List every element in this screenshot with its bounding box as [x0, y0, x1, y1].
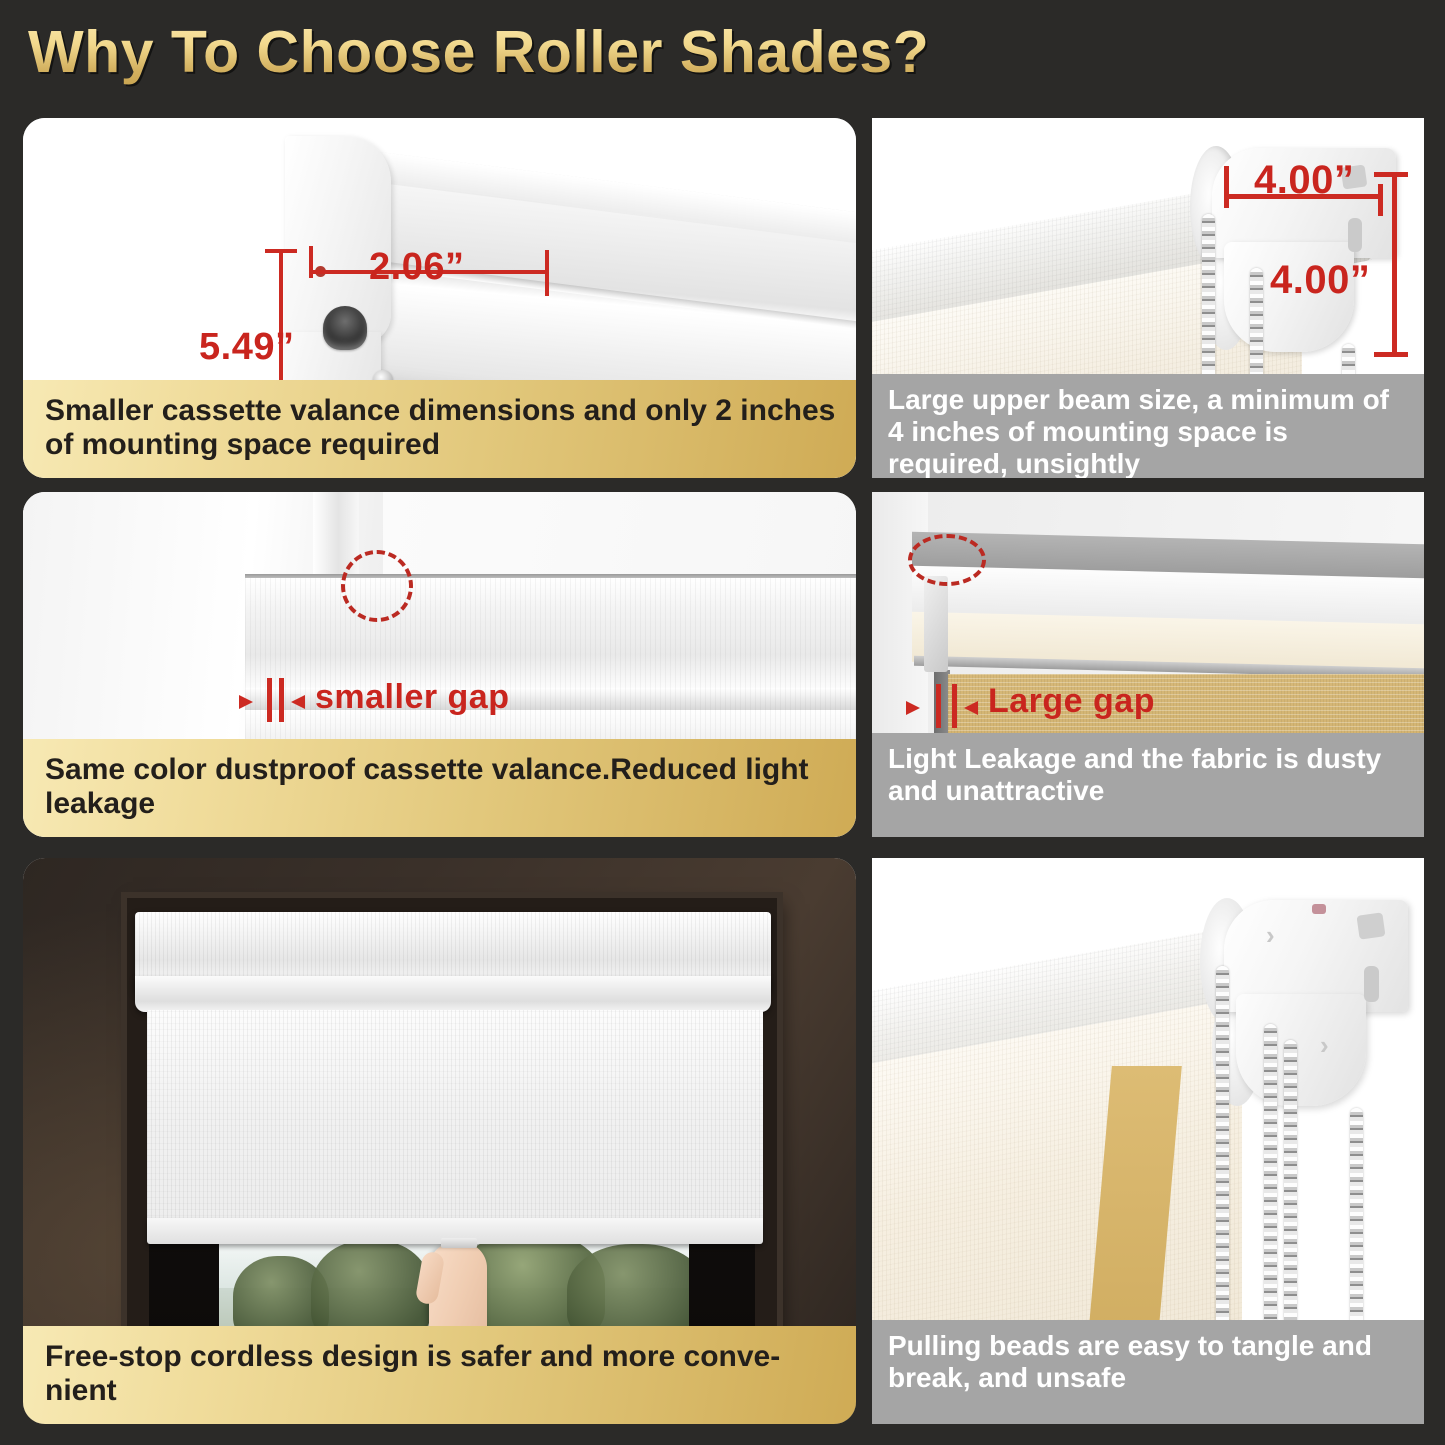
panel-1-caption: Smaller cassette valance dimensions and …: [23, 380, 856, 478]
panel-3-caption: Same color dustproof cassette valance.Re…: [23, 739, 856, 837]
infographic-root: Why To Choose Roller Shades? 2.06” 5.49”…: [0, 0, 1445, 1445]
width-dimension-tick-left: [1224, 166, 1229, 208]
panel-1-smaller-cassette: 2.06” 5.49” Smaller cassette valance dim…: [23, 118, 856, 478]
gap-mark: [279, 678, 284, 722]
bracket-indicator-dot: [1312, 904, 1326, 914]
highlight-circle-icon: [341, 550, 413, 622]
valance-lip: [135, 976, 771, 1012]
page-title: Why To Choose Roller Shades?: [28, 18, 929, 86]
tree: [311, 1244, 431, 1338]
bracket-slot-icon: [1348, 218, 1362, 252]
panel-5-cordless-design: Free-stop cordless design is safer and m…: [23, 858, 856, 1424]
height-dimension-label: 5.49”: [199, 326, 294, 369]
bracket-arrow-icon: ›: [1266, 920, 1275, 951]
pull-tab: [441, 1238, 477, 1248]
height-dimension-tick-top: [1374, 172, 1408, 177]
panel-5-caption: Free-stop cordless design is safer and m…: [23, 1326, 856, 1424]
width-dimension-label: 4.00”: [1254, 158, 1354, 203]
valance-slot: [323, 306, 367, 350]
bracket-tab-icon: [1356, 912, 1385, 939]
width-dimension-tick-left: [309, 246, 313, 278]
gap-arrow-left-icon: [239, 695, 253, 709]
height-dimension-tick-bottom: [1374, 352, 1408, 357]
height-dimension-tick-top: [265, 249, 297, 253]
panel-4-large-gap: Large gap Light Leakage and the fabric i…: [872, 492, 1424, 837]
gap-arrow-right-icon: [964, 701, 978, 715]
panel-6-caption: Pulling beads are easy to tangle and bre…: [872, 1320, 1424, 1424]
gap-mark: [936, 684, 941, 728]
shade-fabric-upper: [245, 578, 856, 688]
width-dimension-tick-right: [545, 250, 549, 296]
panel-2-caption: Large upper beam size, a minimum of 4 in…: [872, 374, 1424, 478]
gap-mark: [267, 678, 272, 722]
bracket-slot-icon: [1364, 966, 1379, 1002]
mounting-bracket-bottom: [1236, 994, 1366, 1106]
height-dimension-line: [1392, 174, 1397, 356]
panel-4-caption: Light Leakage and the fabric is dusty an…: [872, 733, 1424, 837]
mounting-bracket: [924, 576, 948, 672]
tree: [567, 1244, 689, 1338]
gap-arrow-left-icon: [906, 701, 920, 715]
highlight-circle-icon: [908, 534, 986, 586]
panel-2-large-beam: 4.00” 4.00” Large upper beam size, a min…: [872, 118, 1424, 478]
bracket-arrow-icon: ›: [1320, 1030, 1329, 1061]
panel-6-pulling-beads: › › Pulling beads are easy to tangle and…: [872, 858, 1424, 1424]
panel-3-smaller-gap: smaller gap Same color dustproof cassett…: [23, 492, 856, 837]
width-dimension-tick-right: [1378, 184, 1383, 216]
shade-fabric: [147, 1010, 763, 1222]
width-dimension-label: 2.06”: [369, 246, 464, 289]
gap-label: smaller gap: [315, 678, 509, 717]
gap-mark: [952, 684, 957, 728]
height-dimension-label: 4.00”: [1270, 258, 1370, 303]
gap-arrow-right-icon: [291, 695, 305, 709]
gap-label: Large gap: [988, 682, 1155, 721]
